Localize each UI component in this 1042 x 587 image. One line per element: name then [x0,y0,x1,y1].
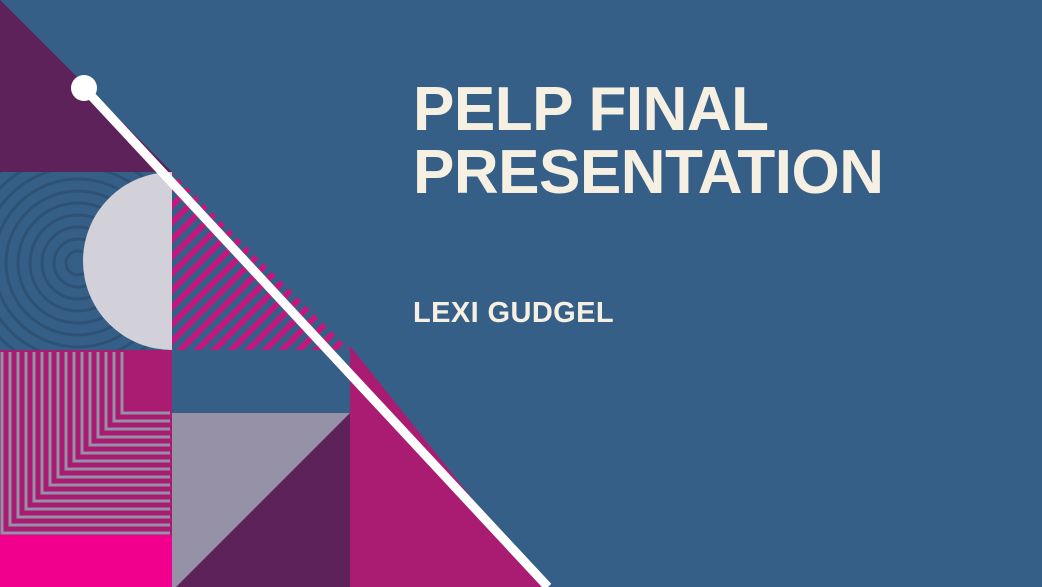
blue-triangle-overlay [0,0,172,172]
blue-rectangle-bar [172,350,350,413]
slide-subtitle: LEXI GUDGEL [413,297,614,330]
dark-purple-triangle [0,0,172,172]
gray-purple-split-square [172,350,350,587]
blue-concentric-circles [0,143,198,383]
light-gray-half-circle [83,172,172,350]
gray-nested-triangle-lines [0,350,172,535]
magenta-diagonal-triangle [350,350,540,587]
page-title: PELP FINAL PRESENTATION [413,78,973,204]
bright-pink-bar [0,535,172,587]
white-circle-dot [71,75,97,101]
presentation-slide: PELP FINAL PRESENTATION LEXI GUDGEL [0,0,1042,587]
magenta-diagonal-stripes [172,172,350,350]
title-block: PELP FINAL PRESENTATION LEXI GUDGEL [413,78,973,204]
